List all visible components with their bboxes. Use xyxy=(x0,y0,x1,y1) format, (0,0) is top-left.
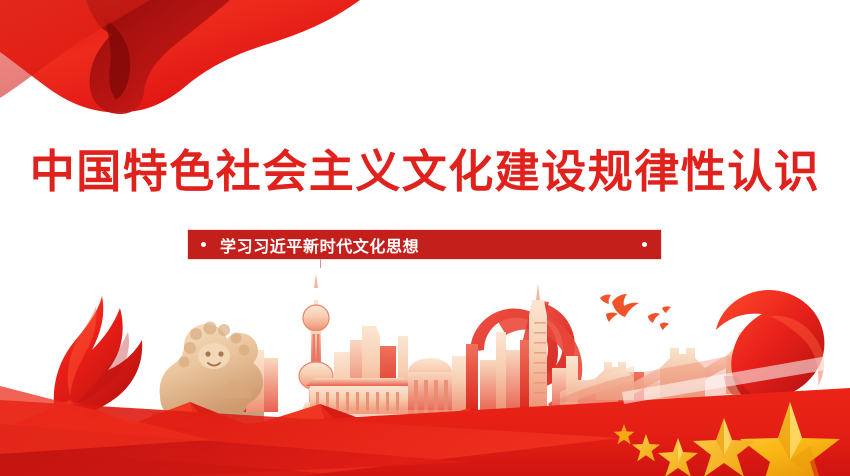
mountains-decoration xyxy=(0,400,850,476)
star-small xyxy=(658,438,698,476)
banner-connector-tick xyxy=(320,259,321,268)
doves-decoration xyxy=(600,294,671,330)
bullet-dot-right-icon xyxy=(642,242,647,247)
dome-building xyxy=(408,358,452,414)
top-ribbon-decoration xyxy=(0,0,360,114)
guardian-lion-decoration xyxy=(152,322,264,425)
star-large xyxy=(740,402,840,476)
party-emblem-decoration xyxy=(470,300,582,440)
tall-skyscraper xyxy=(529,284,547,414)
subtitle-banner: 学习习近平新时代文化思想 xyxy=(188,230,661,259)
right-ribbon-decoration xyxy=(716,290,824,405)
oriental-pearl-tower xyxy=(299,274,333,414)
subtitle-text: 学习习近平新时代文化思想 xyxy=(206,233,642,257)
title-block: 中国特色社会主义文化建设规律性认识 xyxy=(0,146,850,198)
presentation-slide: 中国特色社会主义文化建设规律性认识 学习习近平新时代文化思想 xyxy=(0,0,850,476)
cityscape-decoration xyxy=(210,274,700,416)
star-medium xyxy=(693,418,755,476)
left-ribbon-decoration xyxy=(52,296,142,420)
star-tiny xyxy=(632,434,660,461)
bottom-bands-decoration xyxy=(0,386,850,476)
stars-decoration xyxy=(614,402,840,476)
star-micro xyxy=(614,424,635,444)
great-wall-decoration xyxy=(556,332,786,408)
page-title: 中国特色社会主义文化建设规律性认识 xyxy=(0,146,850,198)
